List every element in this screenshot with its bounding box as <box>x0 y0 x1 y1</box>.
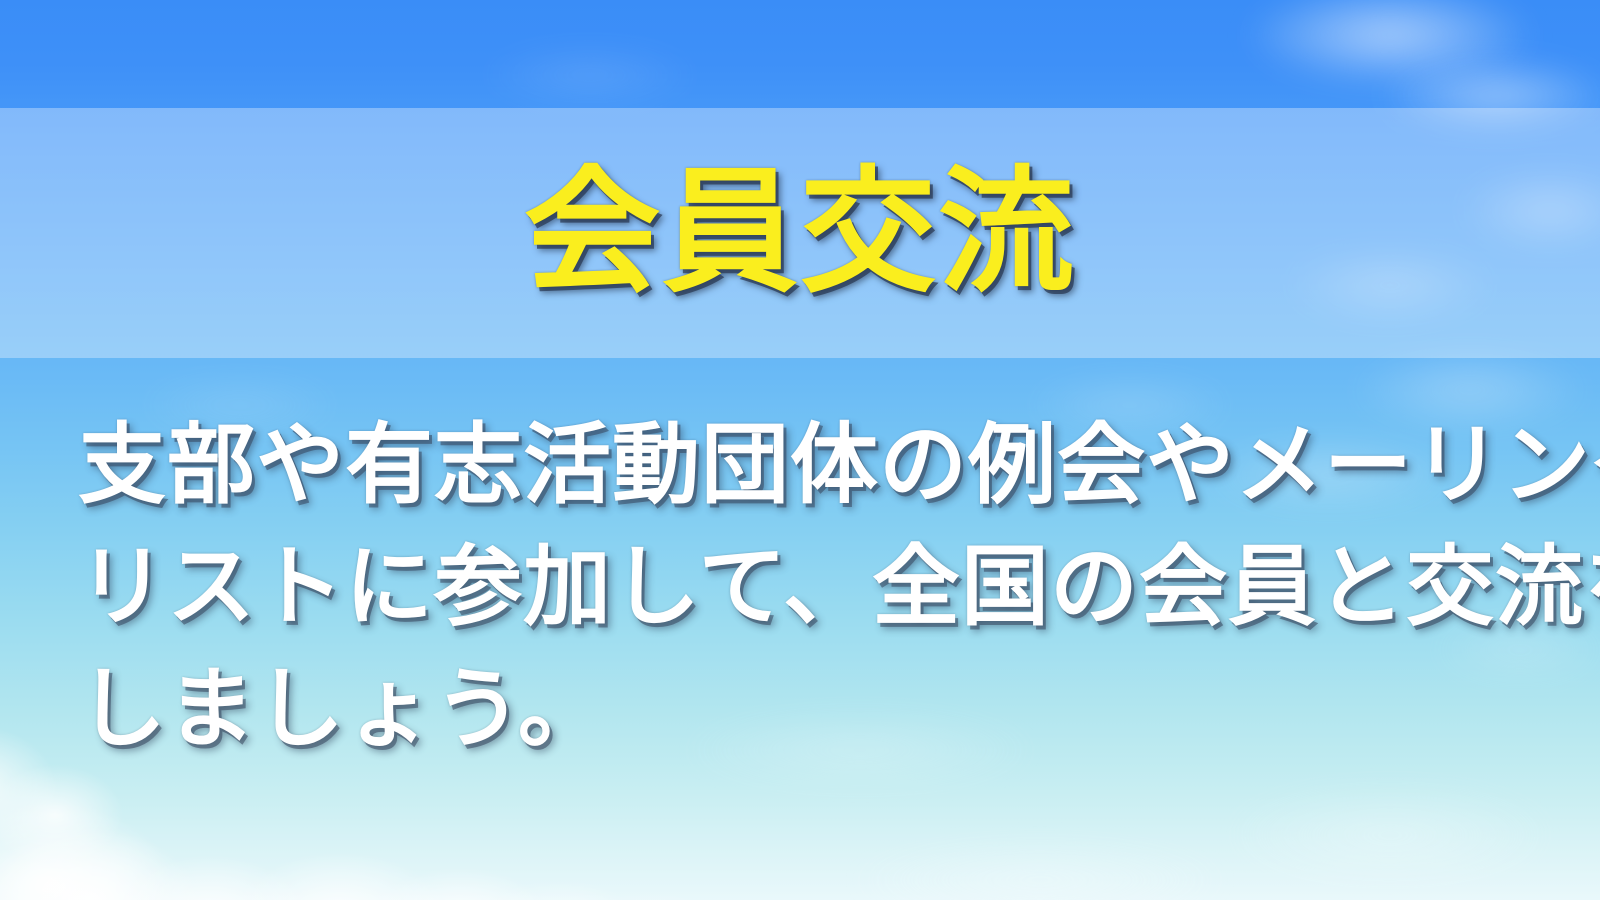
body-line: しましょう。 <box>78 648 1548 770</box>
cloud-wisp-icon <box>760 820 1320 900</box>
body-line: リストに参加して、全国の会員と交流を <box>78 526 1548 648</box>
cloud-wisp-icon <box>1150 760 1600 900</box>
body-paragraph: 支部や有志活動団体の例会やメーリング リストに参加して、全国の会員と交流を しま… <box>78 404 1548 770</box>
cumulus-cloud-icon <box>0 800 240 900</box>
cumulus-cloud-icon <box>0 700 90 880</box>
cumulus-cloud-icon <box>540 875 760 900</box>
cloud-wisp-icon <box>430 30 750 120</box>
cloud-wisp-icon <box>1180 0 1600 110</box>
slide-canvas: 会員交流 支部や有志活動団体の例会やメーリング リストに参加して、全国の会員と交… <box>0 0 1600 900</box>
cumulus-cloud-icon <box>190 825 490 900</box>
body-line: 支部や有志活動団体の例会やメーリング <box>78 404 1548 526</box>
cumulus-cloud-icon <box>440 860 680 900</box>
title-container: 会員交流 <box>0 108 1600 358</box>
cumulus-cloud-icon <box>0 770 220 900</box>
cumulus-cloud-icon <box>330 845 590 900</box>
page-title: 会員交流 <box>524 165 1076 301</box>
cumulus-cloud-icon <box>70 830 350 900</box>
